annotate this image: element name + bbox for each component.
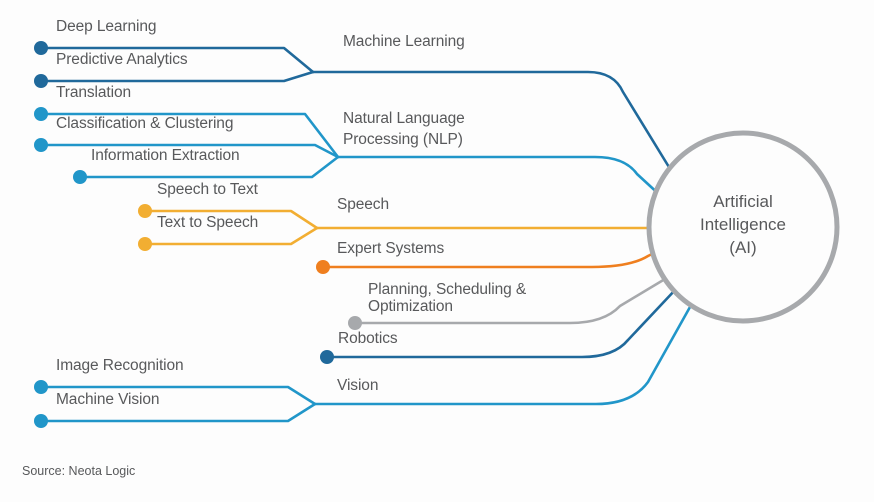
dot-robotics [320,350,334,364]
label-speech-to-text: Speech to Text [157,181,258,198]
ai-taxonomy-diagram: Deep Learning Predictive Analytics Machi… [0,0,874,502]
label-image-recognition: Image Recognition [56,357,184,374]
label-classification-clustering: Classification & Clustering [56,115,233,132]
label-planning-scheduling-optimization-line2: Optimization [368,298,453,315]
dot-speech-to-text [138,204,152,218]
hub-label-line1: Artificial [648,190,838,213]
hub-label-line3: (AI) [648,236,838,259]
connector-nlp-to-hub [338,157,662,197]
label-natural-language-processing-line2: Processing (NLP) [343,131,463,148]
label-text-to-speech: Text to Speech [157,214,258,231]
dot-information-extraction [73,170,87,184]
dot-expert-systems [316,260,330,274]
dot-planning-scheduling-optimization [348,316,362,330]
label-speech: Speech [337,196,389,213]
label-machine-learning: Machine Learning [343,33,465,50]
label-translation: Translation [56,84,131,101]
label-machine-vision: Machine Vision [56,391,159,408]
dot-deep-learning [34,41,48,55]
dot-text-to-speech [138,237,152,251]
hub-label-line2: Intelligence [648,213,838,236]
source-attribution: Source: Neota Logic [22,464,135,478]
label-expert-systems: Expert Systems [337,240,444,257]
dot-image-recognition [34,380,48,394]
label-predictive-analytics: Predictive Analytics [56,51,188,68]
dot-classification-clustering [34,138,48,152]
dot-machine-vision [34,414,48,428]
label-vision: Vision [337,377,378,394]
label-information-extraction: Information Extraction [91,147,240,164]
label-natural-language-processing-line1: Natural Language [343,110,465,127]
label-deep-learning: Deep Learning [56,18,156,35]
dot-predictive-analytics [34,74,48,88]
dot-translation [34,107,48,121]
connector-predictive-analytics [41,72,313,81]
label-planning-scheduling-optimization-line1: Planning, Scheduling & [368,281,526,298]
label-robotics: Robotics [338,330,398,347]
